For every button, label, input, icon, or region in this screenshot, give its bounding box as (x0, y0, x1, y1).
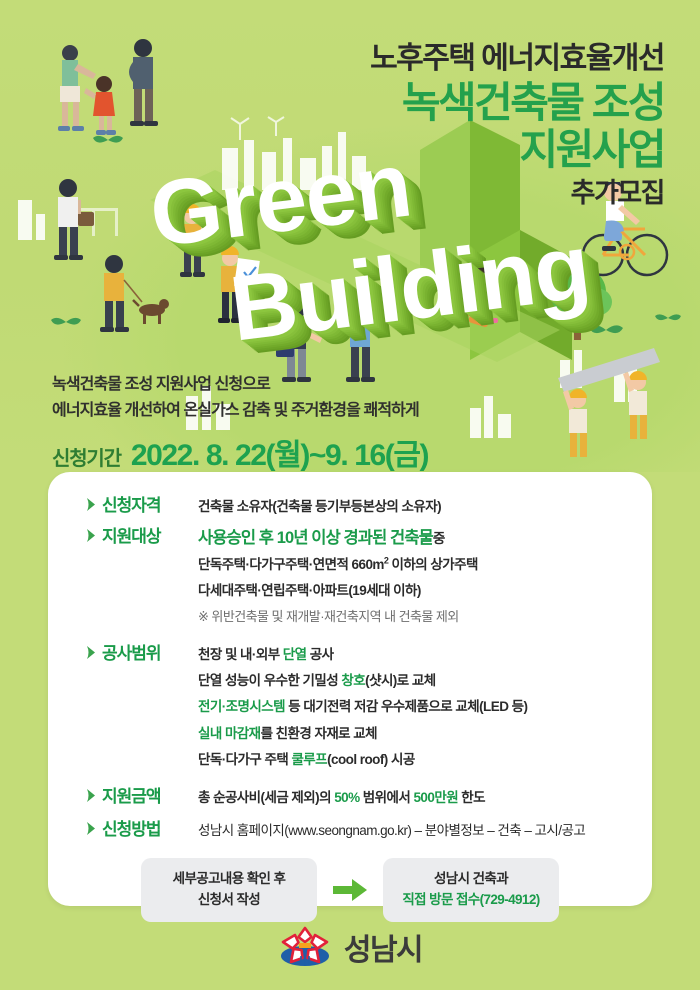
right-arrow-icon (333, 879, 367, 901)
amount-g1: 50% (334, 790, 359, 805)
flow-step-2-line-2: 직접 방문 접수(729-4912) (401, 890, 541, 911)
person-walker (54, 179, 94, 260)
row-label-qualification: 신청자격 (48, 494, 198, 519)
amount-b: 범위에서 (360, 790, 414, 805)
title-line-4: 추가모집 (370, 177, 664, 209)
flow-step-1-line-1: 세부공고내용 확인 후 (159, 869, 299, 890)
row-body-method: 성남시 홈페이지(www.seongnam.go.kr) – 분야별정보 – 건… (198, 818, 652, 844)
period-value: 2022. 8. 22(월)~9. 16(금) (131, 430, 428, 474)
scope-2-b: (샷시)로 교체 (365, 673, 435, 688)
row-amount: 지원금액 총 순공사비(세금 제외)의 50% 범위에서 500만원 한도 (48, 785, 652, 811)
chevron-bullet-icon (86, 788, 97, 803)
scope-3-b: 등 대기전력 저감 우수제품으로 교체(LED 등) (285, 699, 527, 714)
intro-block: 녹색건축물 조성 지원사업 신청으로 에너지효율 개선하여 온실가스 감축 및 … (52, 372, 428, 474)
amount-line: 총 순공사비(세금 제외)의 50% 범위에서 500만원 한도 (198, 785, 630, 811)
target-line-a: 단독주택·다가구주택·연면적 660m2 이하의 상가주택 (198, 552, 630, 578)
target-line-a-pre: 단독주택·다가구주택·연면적 660m (198, 557, 384, 572)
method-line-1: 성남시 홈페이지(www.seongnam.go.kr) – 분야별정보 – 건… (198, 818, 630, 844)
scope-5-g: 쿨루프 (291, 752, 327, 767)
city-name: 성남시 (344, 925, 422, 969)
intro-line-2: 에너지효율 개선하여 온실가스 감축 및 주거환경을 쾌적하게 (52, 398, 428, 424)
label-text-qualification: 신청자격 (102, 494, 161, 519)
scope-line-2: 단열 성능이 우수한 기밀성 창호(샷시)로 교체 (198, 668, 630, 694)
target-line-a-post: 이하의 상가주택 (388, 557, 478, 572)
amount-c: 한도 (458, 790, 485, 805)
chevron-bullet-icon (86, 528, 97, 543)
amount-g2: 500만원 (413, 790, 458, 805)
row-label-amount: 지원금액 (48, 785, 198, 810)
scope-5-a: 단독·다가구 주택 (198, 752, 291, 767)
target-note: ※ 위반건축물 및 재개발·재건축지역 내 건축물 제외 (198, 604, 630, 629)
row-method: 신청방법 성남시 홈페이지(www.seongnam.go.kr) – 분야별정… (48, 818, 652, 844)
target-highlight: 사용승인 후 10년 이상 경과된 건축물 (198, 529, 433, 547)
scope-2-g: 창호 (341, 673, 365, 688)
row-qualification: 신청자격 건축물 소유자(건축물 등기부등본상의 소유자) (48, 494, 652, 520)
period-label: 신청기간 (52, 442, 121, 471)
intro-line-1: 녹색건축물 조성 지원사업 신청으로 (52, 372, 428, 398)
scope-line-5: 단독·다가구 주택 쿨루프(cool roof) 시공 (198, 747, 630, 773)
details-card: 신청자격 건축물 소유자(건축물 등기부등본상의 소유자) 지원대상 사용승인 … (48, 472, 652, 906)
scope-1-g: 단열 (283, 647, 307, 662)
target-highlight-tail: 중 (433, 531, 445, 546)
row-body-target: 사용승인 후 10년 이상 경과된 건축물중 단독주택·다가구주택·연면적 66… (198, 525, 652, 629)
chevron-bullet-icon (86, 497, 97, 512)
scope-1-a: 천장 및 내·외부 (198, 647, 283, 662)
scope-line-4: 실내 마감재를 친환경 자재로 교체 (198, 721, 630, 747)
application-flow: 세부공고내용 확인 후 신청서 작성 성남시 건축과 직접 방문 접수(729-… (48, 858, 652, 922)
row-label-target: 지원대상 (48, 525, 198, 550)
footer-logo-block: 성남시 (0, 924, 700, 970)
row-body-amount: 총 순공사비(세금 제외)의 50% 범위에서 500만원 한도 (198, 785, 652, 811)
poster-title: 노후주택 에너지효율개선 녹색건축물 조성 지원사업 추가모집 (370, 42, 664, 209)
details-rows: 신청자격 건축물 소유자(건축물 등기부등본상의 소유자) 지원대상 사용승인 … (48, 472, 652, 922)
title-line-2: 녹색건축물 조성 (370, 79, 664, 126)
scope-2-a: 단열 성능이 우수한 기밀성 (198, 673, 341, 688)
row-label-method: 신청방법 (48, 818, 198, 843)
chevron-bullet-icon (86, 645, 97, 660)
person-mother (58, 45, 96, 131)
person-child (84, 76, 116, 135)
person-father (129, 39, 158, 126)
label-text-target: 지원대상 (102, 525, 161, 550)
row-label-scope: 공사범위 (48, 642, 198, 667)
row-target: 지원대상 사용승인 후 10년 이상 경과된 건축물중 단독주택·다가구주택·연… (48, 525, 652, 629)
target-highlight-line: 사용승인 후 10년 이상 경과된 건축물중 (198, 525, 630, 551)
scope-3-g: 전기·조명시스템 (198, 699, 285, 714)
row-body-scope: 천장 및 내·외부 단열 공사 단열 성능이 우수한 기밀성 창호(샷시)로 교… (198, 642, 652, 774)
chevron-bullet-icon (86, 821, 97, 836)
scope-4-g: 실내 마감재 (198, 726, 261, 741)
application-period: 신청기간 2022. 8. 22(월)~9. 16(금) (52, 430, 428, 474)
title-line-3: 지원사업 (370, 126, 664, 173)
person-beam-carriers (558, 348, 660, 457)
title-line-1: 노후주택 에너지효율개선 (370, 42, 664, 77)
scope-line-3: 전기·조명시스템 등 대기전력 저감 우수제품으로 교체(LED 등) (198, 694, 630, 720)
flow-step-2-line-1: 성남시 건축과 (401, 869, 541, 890)
label-text-scope: 공사범위 (102, 642, 161, 667)
flow-step-2: 성남시 건축과 직접 방문 접수(729-4912) (383, 858, 559, 922)
scope-line-1: 천장 및 내·외부 단열 공사 (198, 642, 630, 668)
seongnam-flower-logo-icon (278, 924, 332, 970)
amount-a: 총 순공사비(세금 제외)의 (198, 790, 334, 805)
qualification-line-1: 건축물 소유자(건축물 등기부등본상의 소유자) (198, 494, 630, 520)
scope-4-b: 를 친환경 자재로 교체 (261, 726, 377, 741)
row-body-qualification: 건축물 소유자(건축물 등기부등본상의 소유자) (198, 494, 652, 520)
target-line-b: 다세대주택·연립주택·아파트(19세대 이하) (198, 578, 630, 604)
label-text-amount: 지원금액 (102, 785, 161, 810)
row-scope: 공사범위 천장 및 내·외부 단열 공사 단열 성능이 우수한 기밀성 창호(샷… (48, 642, 652, 774)
scope-1-b: 공사 (307, 647, 334, 662)
flow-step-1: 세부공고내용 확인 후 신청서 작성 (141, 858, 317, 922)
flow-step-1-line-2: 신청서 작성 (159, 890, 299, 911)
dog-icon (133, 299, 169, 324)
label-text-method: 신청방법 (102, 818, 161, 843)
scope-5-b: (cool roof) 시공 (327, 752, 415, 767)
